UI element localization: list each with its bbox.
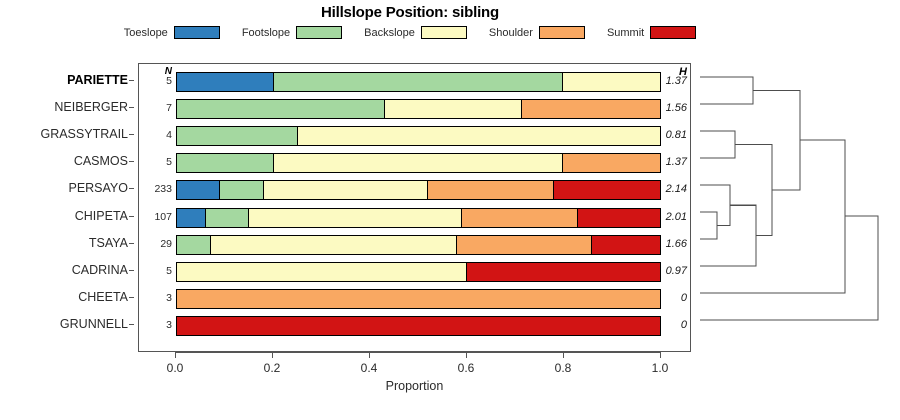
stacked-bar[interactable]: [176, 72, 661, 92]
y-axis-tick: [129, 107, 134, 108]
bar-segment-shoulder[interactable]: [428, 181, 554, 199]
bar-segment-toeslope[interactable]: [177, 73, 274, 91]
bar-segment-backslope[interactable]: [385, 100, 523, 118]
stacked-bar[interactable]: [176, 126, 661, 146]
y-axis-tick: [129, 216, 134, 217]
y-axis-label: CADRINA: [0, 263, 128, 277]
bar-segment-footslope[interactable]: [177, 154, 274, 172]
row-diversity-h: 0: [651, 292, 687, 304]
x-axis-tick-label: 0.4: [349, 361, 389, 375]
bar-segment-backslope[interactable]: [211, 236, 457, 254]
bar-segment-shoulder[interactable]: [462, 209, 578, 227]
row-count-n: 5: [139, 75, 172, 87]
bar-segment-shoulder[interactable]: [522, 100, 660, 118]
y-axis-labels: PARIETTENEIBERGERGRASSYTRAILCASMOSPERSAY…: [0, 63, 134, 352]
stacked-bar[interactable]: [176, 208, 661, 228]
y-axis-label: PERSAYO: [0, 181, 128, 195]
legend-label: Shoulder: [489, 27, 533, 39]
legend-swatch-footslope: [296, 26, 342, 39]
bar-segment-summit[interactable]: [592, 236, 660, 254]
y-axis-label: PARIETTE: [0, 73, 128, 87]
legend-item-toeslope[interactable]: Toeslope: [124, 26, 220, 39]
x-axis-tick: [563, 352, 564, 358]
row-count-n: 7: [139, 102, 172, 114]
x-axis-tick: [466, 352, 467, 358]
x-axis-tick: [272, 352, 273, 358]
y-axis-label: NEIBERGER: [0, 100, 128, 114]
bar-segment-shoulder[interactable]: [563, 154, 660, 172]
x-axis-tick-label: 1.0: [640, 361, 680, 375]
row-count-n: 29: [139, 238, 172, 250]
stacked-bar[interactable]: [176, 289, 661, 309]
y-axis-tick: [129, 188, 134, 189]
bar-segment-shoulder[interactable]: [457, 236, 592, 254]
stacked-bar[interactable]: [176, 180, 661, 200]
dendro-branch-persayo-chipetatsaya: [700, 185, 730, 226]
legend-item-shoulder[interactable]: Shoulder: [489, 26, 585, 39]
stacked-bar[interactable]: [176, 153, 661, 173]
stacked-bar-plot: N H 51.3771.5640.8151.372332.141072.0129…: [138, 63, 691, 352]
row-count-n: 4: [139, 129, 172, 141]
y-axis-label: GRASSYTRAIL: [0, 127, 128, 141]
legend-label: Summit: [607, 27, 644, 39]
row-count-n: 3: [139, 319, 172, 331]
row-diversity-h: 1.56: [651, 102, 687, 114]
dendro-branch-pariette-neiberger: [700, 77, 753, 104]
y-axis-label: GRUNNELL: [0, 317, 128, 331]
legend-label: Footslope: [242, 27, 290, 39]
table-row: 40.81: [139, 122, 690, 149]
stacked-bar[interactable]: [176, 316, 661, 336]
bar-segment-footslope[interactable]: [177, 236, 211, 254]
bar-segment-toeslope[interactable]: [177, 181, 220, 199]
row-count-n: 5: [139, 265, 172, 277]
x-axis-tick-label: 0.0: [155, 361, 195, 375]
bar-segment-summit[interactable]: [177, 317, 660, 335]
bar-segment-footslope[interactable]: [177, 100, 385, 118]
row-diversity-h: 1.37: [651, 156, 687, 168]
legend-swatch-toeslope: [174, 26, 220, 39]
x-axis-tick: [175, 352, 176, 358]
bar-segment-footslope[interactable]: [274, 73, 564, 91]
x-axis-tick-label: 0.2: [252, 361, 292, 375]
legend-item-summit[interactable]: Summit: [607, 26, 696, 39]
bar-segment-backslope[interactable]: [264, 181, 428, 199]
page-title: Hillslope Position: sibling: [0, 4, 820, 21]
dendrogram-svg: [700, 60, 900, 360]
row-diversity-h: 1.66: [651, 238, 687, 250]
dendro-branch-a-f: [753, 91, 800, 191]
row-count-n: 3: [139, 292, 172, 304]
legend-swatch-backslope: [421, 26, 467, 39]
x-axis-line: [175, 352, 660, 353]
legend: Toeslope Footslope Backslope Shoulder Su…: [0, 26, 820, 39]
y-axis-tick: [129, 80, 134, 81]
bar-segment-shoulder[interactable]: [177, 290, 660, 308]
row-diversity-h: 2.01: [651, 211, 687, 223]
x-axis-tick-label: 0.8: [543, 361, 583, 375]
row-diversity-h: 0.97: [651, 265, 687, 277]
y-axis-label: CHEETA: [0, 290, 128, 304]
stacked-bar[interactable]: [176, 262, 661, 282]
y-axis-tick: [129, 270, 134, 271]
y-axis-label: TSAYA: [0, 236, 128, 250]
table-row: 2332.14: [139, 176, 690, 203]
dendro-branch-grassytrail-casmos: [700, 131, 735, 158]
stacked-bar[interactable]: [176, 99, 661, 119]
x-axis: 0.00.20.40.60.81.0 Proportion: [138, 352, 691, 392]
row-diversity-h: 1.37: [651, 75, 687, 87]
legend-swatch-shoulder: [539, 26, 585, 39]
stacked-bar[interactable]: [176, 235, 661, 255]
row-diversity-h: 0: [651, 319, 687, 331]
table-row: 291.66: [139, 231, 690, 258]
table-row: 50.97: [139, 258, 690, 285]
x-axis-title: Proportion: [138, 379, 691, 393]
bar-segment-toeslope[interactable]: [177, 209, 206, 227]
y-axis-label: CHIPETA: [0, 209, 128, 223]
bar-segment-footslope[interactable]: [220, 181, 263, 199]
table-row: 51.37: [139, 149, 690, 176]
legend-label: Toeslope: [124, 27, 168, 39]
bar-segment-backslope[interactable]: [177, 263, 467, 281]
bar-segment-summit[interactable]: [467, 263, 660, 281]
bar-segment-backslope[interactable]: [249, 209, 462, 227]
y-axis-tick: [129, 134, 134, 135]
y-axis-label: CASMOS: [0, 154, 128, 168]
table-row: 51.37: [139, 68, 690, 95]
table-row: 71.56: [139, 95, 690, 122]
row-count-n: 233: [139, 183, 172, 195]
bar-segment-footslope[interactable]: [206, 209, 249, 227]
bar-segment-footslope[interactable]: [177, 127, 298, 145]
y-axis-tick: [129, 297, 134, 298]
dendro-branch-b-e: [735, 145, 772, 236]
x-axis-tick: [660, 352, 661, 358]
x-axis-tick: [369, 352, 370, 358]
bar-segment-summit[interactable]: [554, 181, 660, 199]
y-axis-tick: [129, 324, 134, 325]
y-axis-tick: [129, 161, 134, 162]
bar-segment-backslope[interactable]: [274, 154, 564, 172]
dendro-branch-chipeta-tsaya: [700, 212, 717, 239]
row-count-n: 107: [139, 211, 172, 223]
legend-item-backslope[interactable]: Backslope: [364, 26, 467, 39]
legend-label: Backslope: [364, 27, 415, 39]
bar-segment-backslope[interactable]: [298, 127, 660, 145]
row-count-n: 5: [139, 156, 172, 168]
row-diversity-h: 2.14: [651, 183, 687, 195]
table-row: 1072.01: [139, 204, 690, 231]
legend-item-footslope[interactable]: Footslope: [242, 26, 342, 39]
row-diversity-h: 0.81: [651, 129, 687, 141]
x-axis-tick-label: 0.6: [446, 361, 486, 375]
dendro-branch-root: [700, 216, 878, 320]
table-row: 30: [139, 312, 690, 339]
bar-segment-summit[interactable]: [578, 209, 660, 227]
dendro-branch-d-cadrina: [700, 205, 756, 266]
y-axis-tick: [129, 243, 134, 244]
table-row: 30: [139, 285, 690, 312]
legend-swatch-summit: [650, 26, 696, 39]
dendrogram: [700, 60, 900, 360]
bar-segment-backslope[interactable]: [563, 73, 660, 91]
